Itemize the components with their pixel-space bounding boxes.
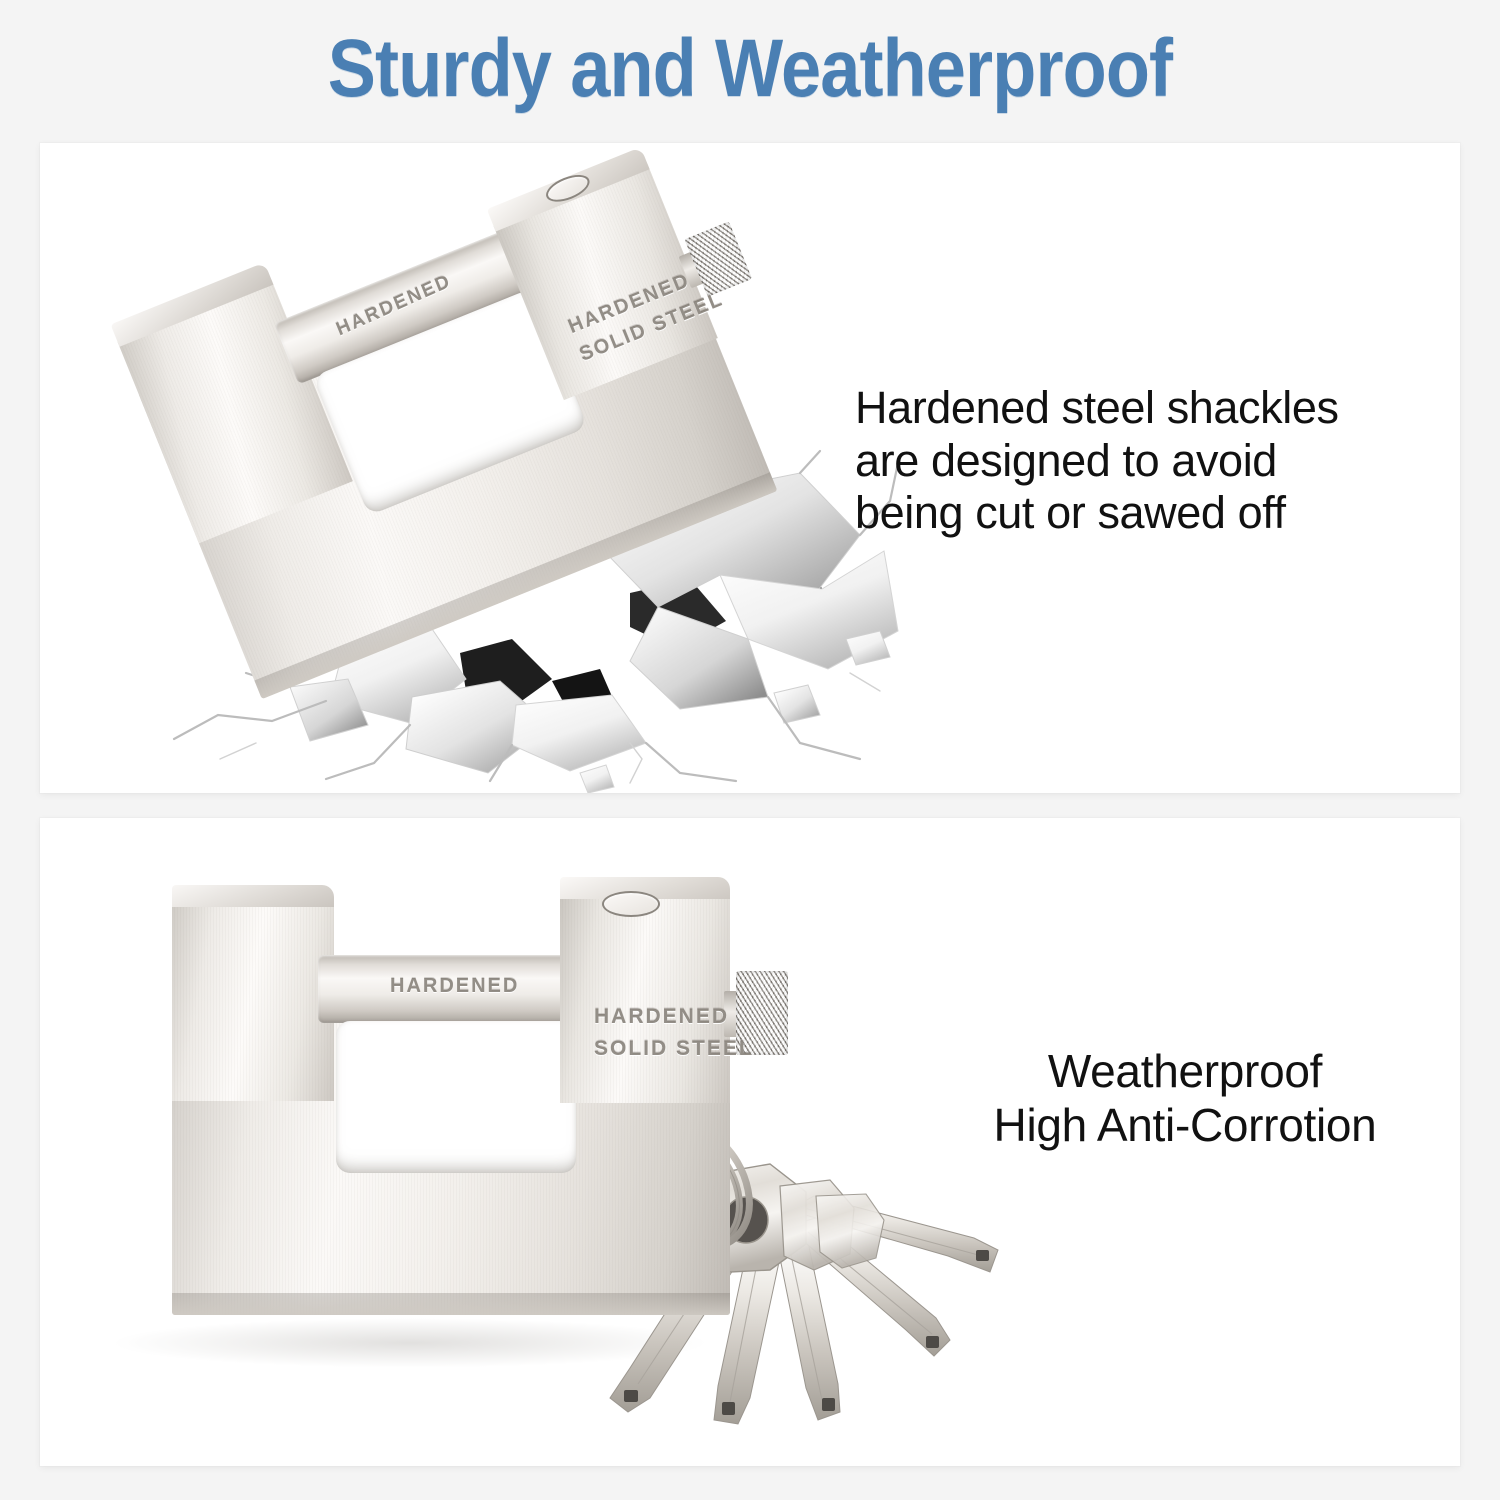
shackle-engraving: HARDENED bbox=[390, 975, 519, 998]
padlock-left-post-top bbox=[172, 885, 334, 907]
feature-caption-bottom: Weatherproof High Anti-Corrotion bbox=[920, 1045, 1450, 1153]
padlock-right-post bbox=[560, 893, 730, 1103]
brushed-texture bbox=[560, 893, 730, 1103]
padlock-left-post bbox=[172, 901, 334, 1101]
infographic-page: Sturdy and Weatherproof bbox=[0, 0, 1500, 1500]
page-title: Sturdy and Weatherproof bbox=[90, 22, 1410, 116]
brushed-texture bbox=[172, 901, 334, 1101]
body-engraving-line2: SOLID STEEL bbox=[594, 1037, 754, 1061]
feature-panel-bottom: Nestup Nestup bbox=[40, 818, 1460, 1466]
padlock-shackle-window bbox=[336, 1021, 576, 1173]
feature-panel-top: HARDENED HARDENED SOLID STEEL Hardened s… bbox=[40, 143, 1460, 793]
body-engraving-line1: HARDENED bbox=[594, 1005, 729, 1029]
padlock-tilted: HARDENED HARDENED SOLID STEEL bbox=[76, 143, 846, 793]
padlock-body-bevel bbox=[172, 1293, 730, 1315]
feature-caption-top: Hardened steel shackles are designed to … bbox=[855, 382, 1430, 540]
padlock-upright: HARDENED HARDENED SOLID STEEL bbox=[140, 863, 760, 1363]
keyhole-cover-icon bbox=[602, 891, 660, 917]
padlock-body-bevel bbox=[254, 472, 777, 699]
